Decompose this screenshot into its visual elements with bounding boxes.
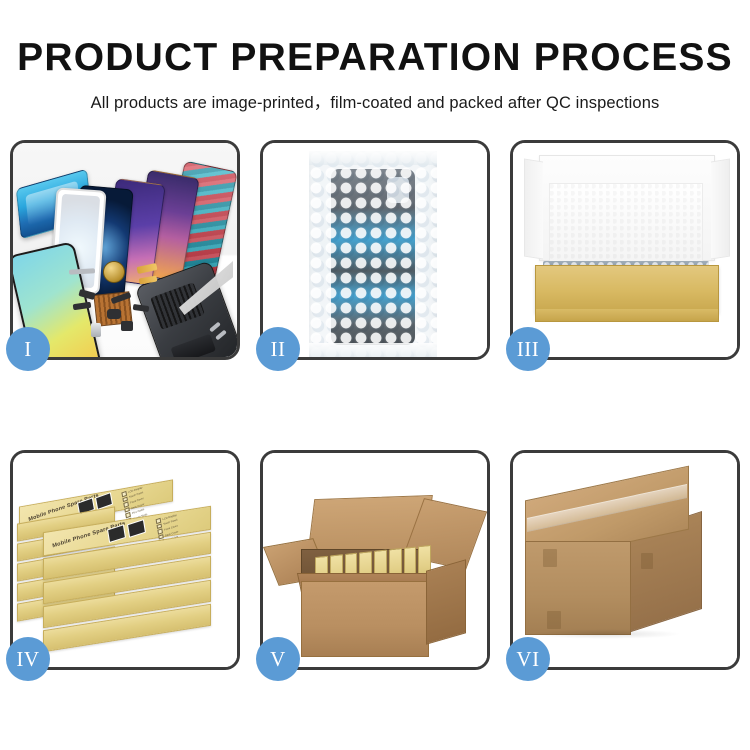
step-1-badge: I (6, 327, 50, 371)
step-2-badge: II (256, 327, 300, 371)
carton-front-face (301, 581, 429, 657)
page-subtitle: All products are image-printed，film-coat… (0, 80, 750, 113)
step-6-image (513, 453, 737, 667)
part-bit (91, 323, 101, 337)
kraft-box-tray (535, 265, 719, 313)
carton-handle-tab (641, 553, 653, 569)
spare-parts-scene (13, 143, 237, 357)
bag-seal-bottom (309, 343, 437, 357)
carton-front-face (525, 541, 631, 635)
process-step-4: Mobile Phone Spare Parts LCD Display Tou… (10, 450, 240, 670)
process-step-1: I (10, 140, 240, 360)
part-bit (107, 309, 121, 319)
step-4-badge: IV (6, 637, 50, 681)
bubble-highlight-layer (309, 151, 437, 357)
header: PRODUCT PREPARATION PROCESS All products… (0, 0, 750, 113)
process-step-3: III (510, 140, 740, 360)
part-bit (133, 304, 150, 312)
stacked-boxes-scene: Mobile Phone Spare Parts LCD Display Tou… (13, 453, 237, 667)
part-bit (121, 321, 133, 331)
process-step-6: VI (510, 450, 740, 670)
sealed-carton-scene (513, 453, 737, 667)
process-step-5: V (260, 450, 490, 670)
step-1-image (13, 143, 237, 357)
carton-side-face (426, 559, 466, 644)
inner-box-scene (513, 143, 737, 357)
speaker-component (103, 261, 125, 283)
step-5-image (263, 453, 487, 667)
step-6-badge: VI (506, 637, 550, 681)
bubble-wrap-bag (309, 151, 437, 357)
step-3-image (513, 143, 737, 357)
step-2-image (263, 143, 487, 357)
page-title: PRODUCT PREPARATION PROCESS (0, 0, 750, 80)
carton-handle-tab (547, 611, 561, 629)
open-carton-scene (263, 453, 487, 667)
box-front-lip (535, 309, 719, 322)
process-step-2: II (260, 140, 490, 360)
carton-handle-tab (543, 549, 557, 567)
foam-sheet (549, 183, 703, 273)
product-preparation-infographic: PRODUCT PREPARATION PROCESS All products… (0, 0, 750, 750)
carton-shadow (531, 629, 681, 639)
process-step-grid: I II (10, 140, 740, 680)
step-3-badge: III (506, 327, 550, 371)
step-5-badge: V (256, 637, 300, 681)
bag-seal-top (309, 151, 437, 165)
step-4-image: Mobile Phone Spare Parts LCD Display Tou… (13, 453, 237, 667)
bubble-wrap-scene (263, 143, 487, 357)
